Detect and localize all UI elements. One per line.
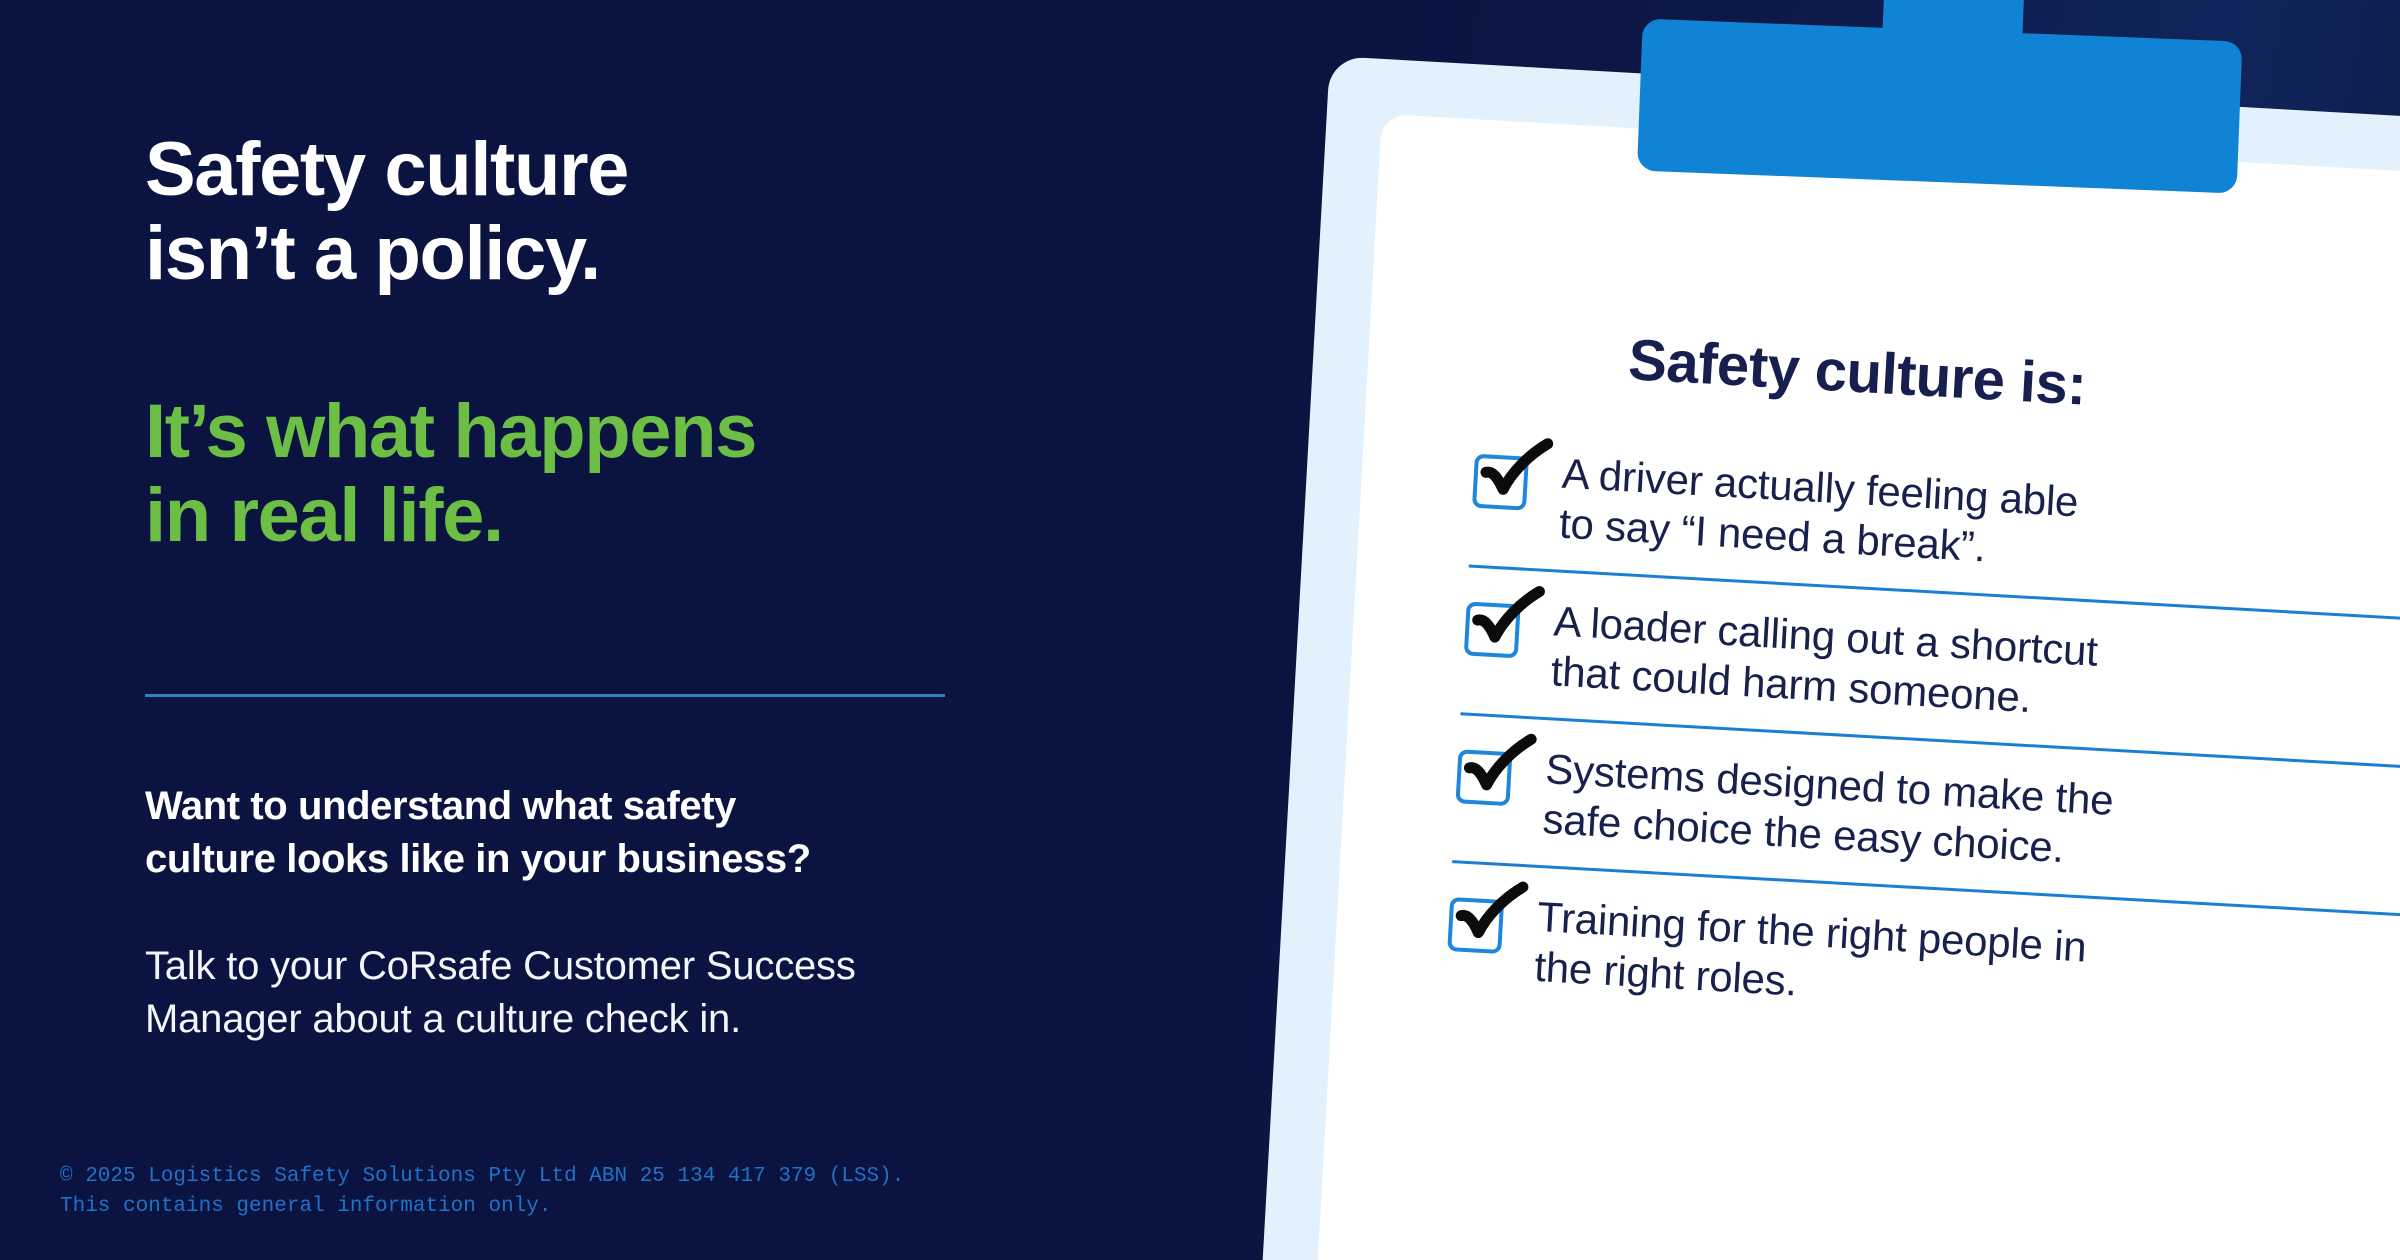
clip-body <box>1637 19 2242 194</box>
headline-line-1: Safety culture <box>145 128 628 212</box>
question-line-2: culture looks like in your business? <box>145 833 1175 886</box>
footer-line-2: This contains general information only. <box>60 1192 904 1222</box>
page-title: Safety culture isn’t a policy. <box>145 128 628 295</box>
clipboard-clip <box>1636 0 2244 214</box>
body-line-2: Manager about a culture check in. <box>145 993 1105 1046</box>
question-line-1: Want to understand what safety <box>145 780 1175 833</box>
check-icon <box>1453 725 1542 814</box>
clipboard: Safety culture is: A driver actually fee… <box>1256 56 2400 1260</box>
checkbox-1[interactable] <box>1472 454 1529 511</box>
body-line-1: Talk to your CoRsafe Customer Success <box>145 940 1105 993</box>
slide-canvas: Safety culture is: A driver actually fee… <box>0 0 2400 1260</box>
clipboard-title: Safety culture is: <box>1627 326 2088 418</box>
checklist-item-text: Training for the right people in the rig… <box>1533 892 2088 1022</box>
check-icon <box>1470 430 1559 519</box>
headline-green-line-2: in real life. <box>145 474 756 558</box>
check-icon <box>1445 873 1534 962</box>
check-icon <box>1461 578 1550 667</box>
checkbox-4[interactable] <box>1447 897 1504 954</box>
checklist-item-text: A loader calling out a shortcut that cou… <box>1550 597 2099 726</box>
checklist: A driver actually feeling able to say “I… <box>1444 420 2400 1065</box>
checkbox-3[interactable] <box>1455 749 1512 806</box>
divider-rule <box>145 694 945 697</box>
body-copy: Talk to your CoRsafe Customer Success Ma… <box>145 940 1105 1046</box>
footer-line-1: © 2025 Logistics Safety Solutions Pty Lt… <box>60 1162 904 1192</box>
footer-legal: © 2025 Logistics Safety Solutions Pty Lt… <box>60 1162 904 1222</box>
headline-green-line-1: It’s what happens <box>145 390 756 474</box>
page-subtitle-green: It’s what happens in real life. <box>145 390 756 557</box>
checkbox-2[interactable] <box>1464 602 1521 659</box>
question-text: Want to understand what safety culture l… <box>145 780 1175 886</box>
checklist-item-text: Systems designed to make the safe choice… <box>1541 744 2114 875</box>
checklist-item-text: A driver actually feeling able to say “I… <box>1558 449 2080 577</box>
clipboard-paper-content: Safety culture is: A driver actually fee… <box>1309 114 2400 1260</box>
headline-line-2: isn’t a policy. <box>145 212 628 296</box>
